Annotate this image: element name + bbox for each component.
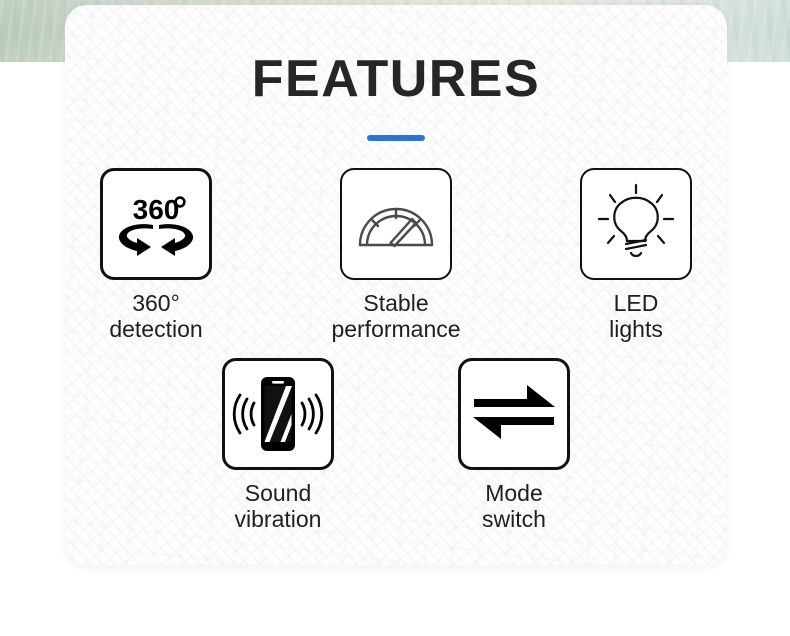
icon-box-mode-switch [458,358,570,470]
360-rotation-icon: 360 [113,189,199,259]
svg-text:360: 360 [133,194,180,225]
phone-vibration-icon [231,373,325,455]
feature-item-360-detection[interactable]: 360 360° detection [68,168,244,343]
feature-item-mode-switch[interactable]: Mode switch [426,358,602,533]
features-card: FEATURES 360 [65,5,727,565]
feature-label-360-detection: 360° detection [109,291,202,343]
feature-item-stable-performance[interactable]: Stable performance [308,168,484,343]
feature-row-bottom: Sound vibration Mode switch [65,358,727,533]
feature-label-stable-performance: Stable performance [331,291,460,343]
icon-box-360-detection: 360 [100,168,212,280]
feature-label-mode-switch: Mode switch [482,481,546,533]
feature-label-led-lights: LED lights [609,291,663,343]
icon-box-led-lights [580,168,692,280]
feature-label-sound-vibration: Sound vibration [235,481,322,533]
speedometer-gauge-icon [355,193,437,255]
lightbulb-icon [596,183,676,265]
feature-item-led-lights[interactable]: LED lights [548,168,724,343]
feature-item-sound-vibration[interactable]: Sound vibration [190,358,366,533]
title-underline-bar [367,135,425,141]
icon-box-sound-vibration [222,358,334,470]
feature-row-top: 360 360° detection [65,168,727,343]
card-content: FEATURES 360 [65,5,727,565]
page-title: FEATURES [65,53,727,105]
two-way-arrows-icon [470,380,558,448]
icon-box-stable-performance [340,168,452,280]
